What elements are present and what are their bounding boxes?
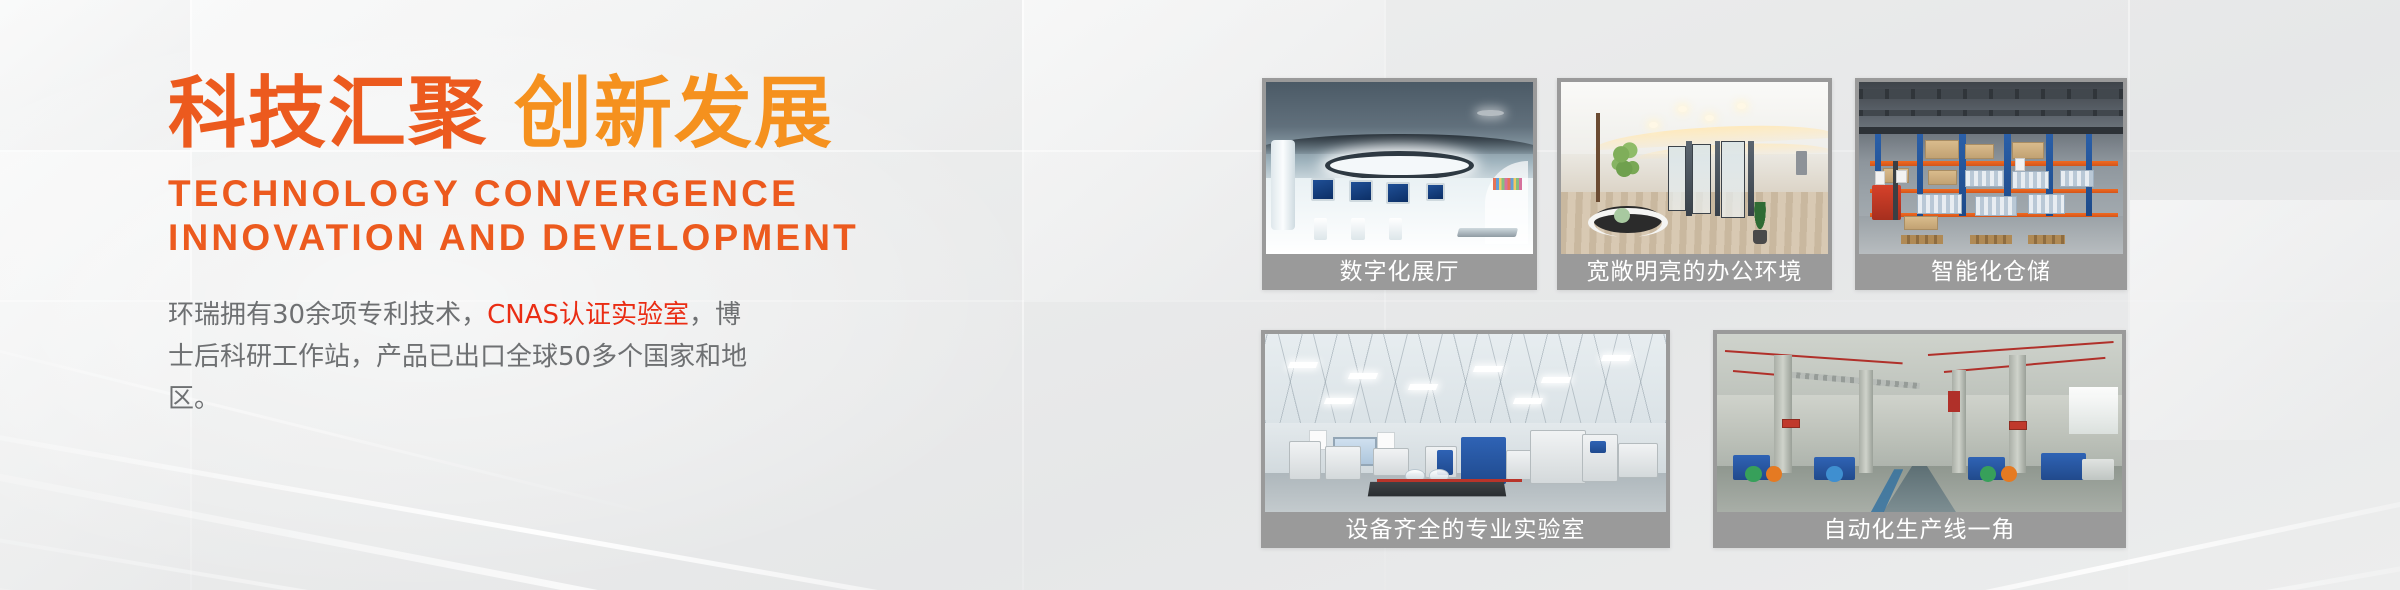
photo-card-showroom[interactable]: 数字化展厅 xyxy=(1262,78,1537,290)
photo-grid: 数字化展厅 xyxy=(0,0,2400,590)
photo-card-warehouse[interactable]: 智能化仓储 xyxy=(1855,78,2127,290)
photo-thumb-production-line xyxy=(1717,334,2122,512)
photo-caption-showroom: 数字化展厅 xyxy=(1266,254,1533,290)
photo-card-laboratory[interactable]: 设备齐全的专业实验室 xyxy=(1261,330,1670,548)
photo-thumb-office xyxy=(1561,82,1828,254)
photo-thumb-warehouse xyxy=(1859,82,2123,254)
photo-card-production-line[interactable]: 自动化生产线一角 xyxy=(1713,330,2126,548)
company-banner: 科技汇聚创新发展 TECHNOLOGY CONVERGENCE INNOVATI… xyxy=(0,0,2400,590)
photo-caption-warehouse: 智能化仓储 xyxy=(1859,254,2123,290)
photo-caption-production-line: 自动化生产线一角 xyxy=(1717,512,2122,548)
photo-thumb-laboratory xyxy=(1265,334,1666,512)
photo-thumb-showroom xyxy=(1266,82,1533,254)
photo-card-office[interactable]: 宽敞明亮的办公环境 xyxy=(1557,78,1832,290)
photo-caption-laboratory: 设备齐全的专业实验室 xyxy=(1265,512,1666,548)
photo-caption-office: 宽敞明亮的办公环境 xyxy=(1561,254,1828,290)
